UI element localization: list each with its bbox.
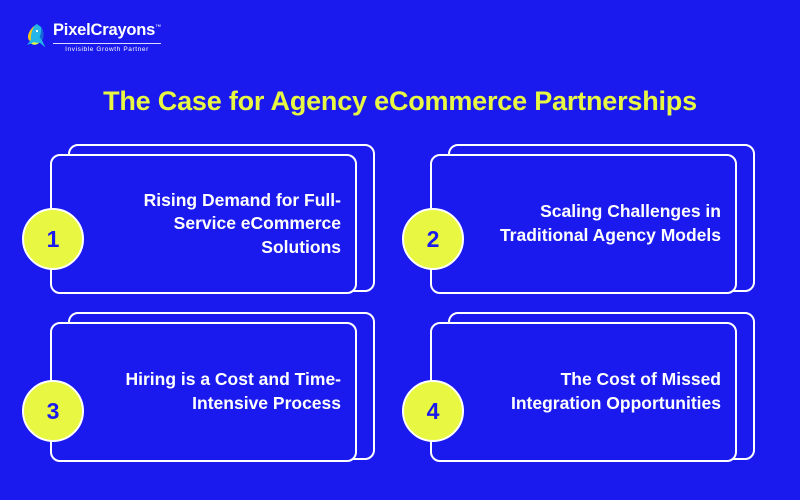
card-number-badge: 4: [402, 380, 464, 442]
cards-grid: Rising Demand for Full-Service eCommerce…: [30, 150, 770, 480]
card-label: Scaling Challenges in Traditional Agency…: [494, 200, 721, 247]
card-label: Rising Demand for Full-Service eCommerce…: [114, 189, 341, 260]
card-item-4[interactable]: The Cost of Missed Integration Opportuni…: [430, 318, 755, 466]
card-body: The Cost of Missed Integration Opportuni…: [430, 322, 737, 462]
brand-logo: PixelCrayons™ Invisible Growth Partner: [22, 22, 161, 53]
card-number-badge: 2: [402, 208, 464, 270]
slide-canvas: PixelCrayons™ Invisible Growth Partner T…: [0, 0, 800, 500]
card-number-badge: 3: [22, 380, 84, 442]
trademark-symbol: ™: [155, 25, 161, 31]
card-item-2[interactable]: Scaling Challenges in Traditional Agency…: [430, 150, 755, 298]
hummingbird-logo-icon: [22, 23, 48, 53]
card-number-badge: 1: [22, 208, 84, 270]
card-label: The Cost of Missed Integration Opportuni…: [494, 368, 721, 415]
brand-tagline: Invisible Growth Partner: [53, 43, 161, 54]
brand-name: PixelCrayons™: [53, 22, 161, 39]
card-item-3[interactable]: Hiring is a Cost and Time-Intensive Proc…: [50, 318, 375, 466]
card-item-1[interactable]: Rising Demand for Full-Service eCommerce…: [50, 150, 375, 298]
card-body: Rising Demand for Full-Service eCommerce…: [50, 154, 357, 294]
card-body: Scaling Challenges in Traditional Agency…: [430, 154, 737, 294]
page-title: The Case for Agency eCommerce Partnershi…: [0, 86, 800, 117]
brand-name-text: PixelCrayons: [53, 21, 155, 39]
card-body: Hiring is a Cost and Time-Intensive Proc…: [50, 322, 357, 462]
card-label: Hiring is a Cost and Time-Intensive Proc…: [114, 368, 341, 415]
